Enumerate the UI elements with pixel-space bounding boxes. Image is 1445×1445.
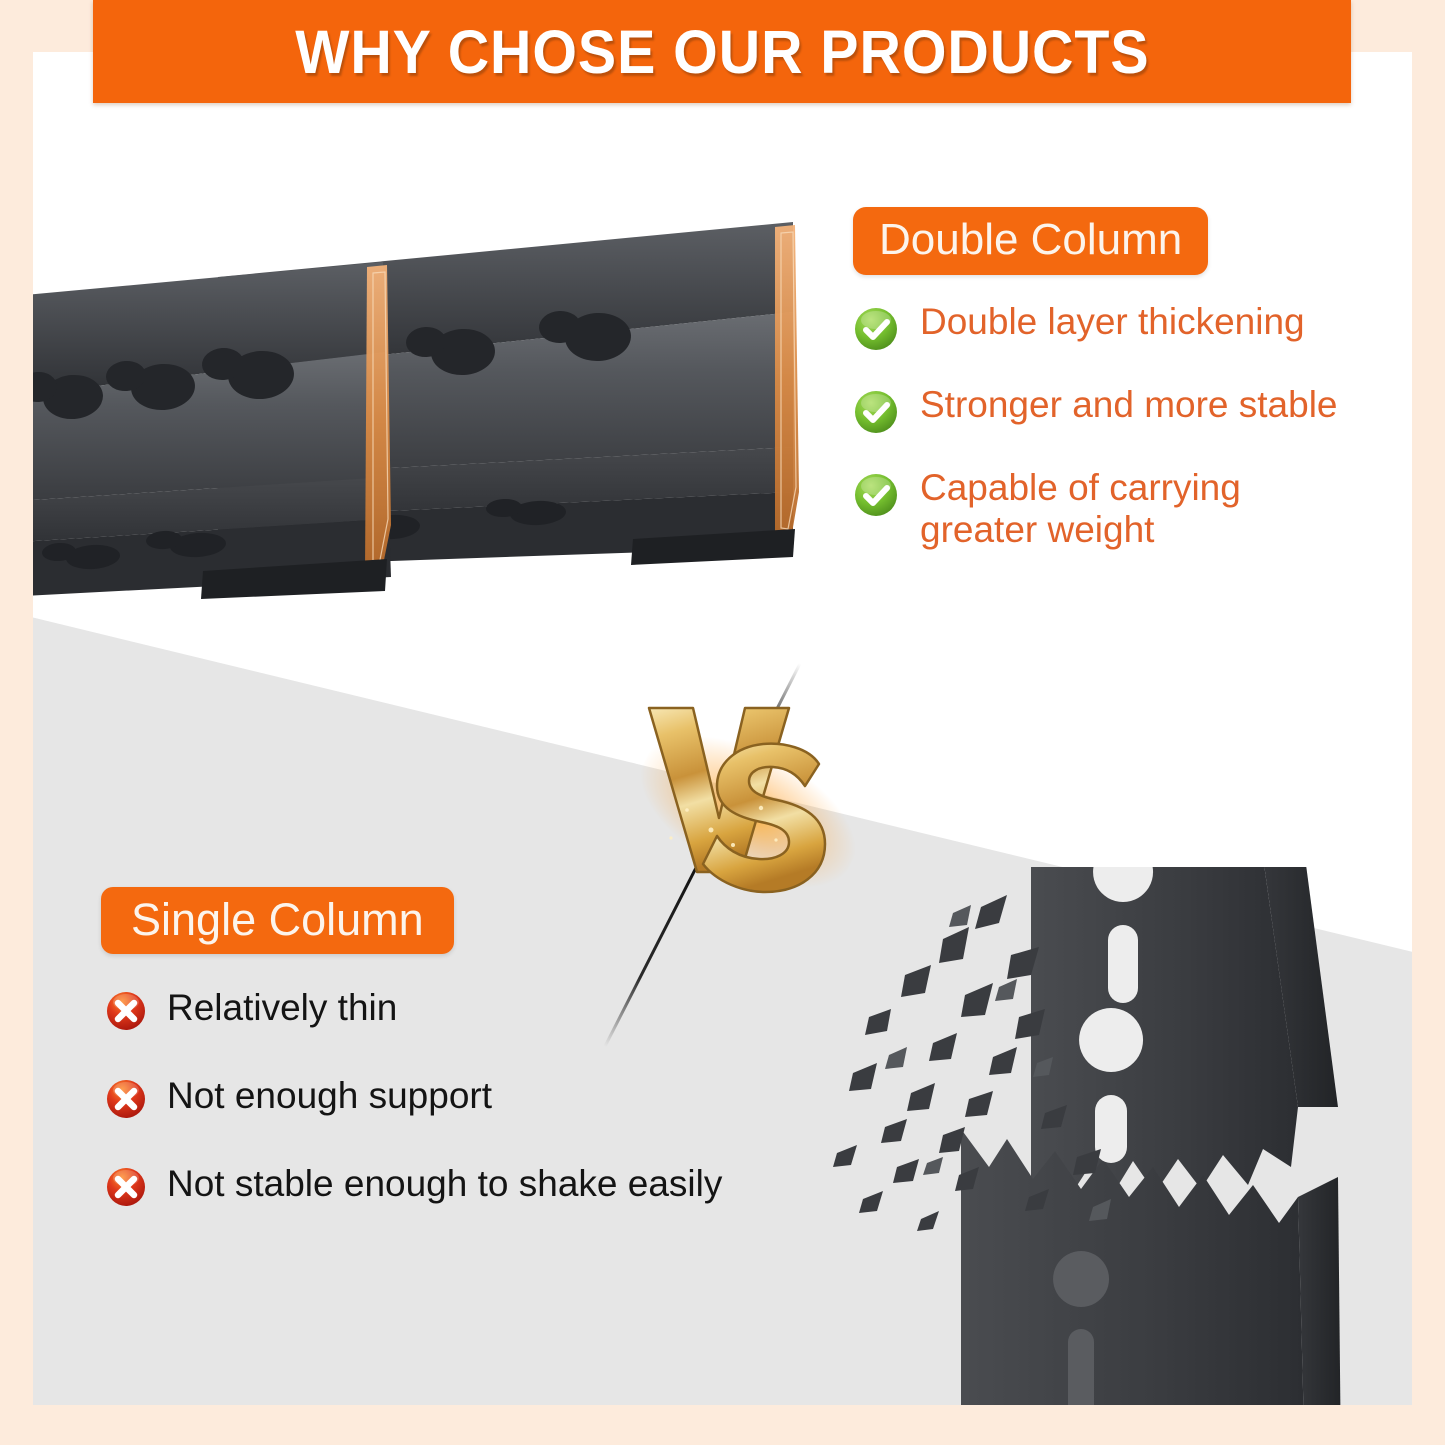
check-icon xyxy=(853,389,899,440)
content-card: Double Column xyxy=(33,52,1412,1405)
list-item: Not stable enough to shake easily xyxy=(105,1163,891,1213)
double-column-feature-block: Double Column xyxy=(853,207,1398,577)
page-title: WHY CHOSE OUR PRODUCTS xyxy=(295,17,1149,87)
header-banner: WHY CHOSE OUR PRODUCTS xyxy=(93,0,1351,103)
double-column-photo xyxy=(33,147,823,627)
list-item-label: Double layer thickening xyxy=(920,301,1305,342)
double-column-pill: Double Column xyxy=(853,207,1208,275)
list-item-label: Stronger and more stable xyxy=(920,384,1338,425)
list-item-label: Not enough support xyxy=(167,1075,492,1116)
single-column-pill-label: Single Column xyxy=(131,894,424,945)
single-column-pill: Single Column xyxy=(101,887,454,954)
list-item: Stronger and more stable xyxy=(853,384,1398,440)
check-icon xyxy=(853,306,899,357)
cross-icon xyxy=(105,1078,147,1125)
list-item: Capable of carrying greater weight xyxy=(853,467,1398,550)
check-icon xyxy=(853,472,899,523)
single-column-bullet-list: Relatively thin Not enough support xyxy=(105,987,891,1213)
list-item-label: Capable of carrying greater weight xyxy=(920,467,1241,550)
list-item-label: Not stable enough to shake easily xyxy=(167,1163,722,1204)
versus-badge xyxy=(641,690,851,905)
list-item: Double layer thickening xyxy=(853,301,1398,357)
list-item: Relatively thin xyxy=(105,987,891,1037)
list-item-label: Relatively thin xyxy=(167,987,397,1028)
double-column-bullet-list: Double layer thickening Stronger and mor… xyxy=(853,301,1398,550)
cross-icon xyxy=(105,990,147,1037)
list-item: Not enough support xyxy=(105,1075,891,1125)
cross-icon xyxy=(105,1166,147,1213)
infographic-page: Double Column xyxy=(0,0,1445,1445)
single-column-feature-block: Single Column xyxy=(101,887,891,1251)
double-column-pill-label: Double Column xyxy=(879,215,1182,264)
